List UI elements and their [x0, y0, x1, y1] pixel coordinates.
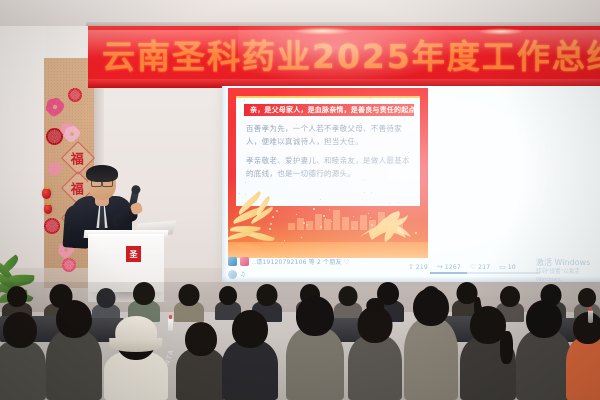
audience-head [573, 312, 600, 344]
audience-torso [566, 337, 600, 400]
baseball-cap [115, 316, 157, 349]
heart-icon[interactable]: ♡ [470, 264, 476, 271]
audience-head [3, 312, 37, 348]
conference-photo: 福福福 云南圣科药业2025年度工作总结暨 亲，是父母家人，是血脉亲情，是善良与… [0, 0, 600, 400]
video-stat[interactable]: ↪1267 [437, 264, 461, 271]
audience-torso [516, 330, 572, 400]
skyline-building [315, 214, 322, 230]
paper-flower-decoration [64, 126, 79, 141]
video-user-label: ..请19120792106 等 2 个朋友 ♡ [252, 257, 349, 266]
watermark-line-1: 激活 Windows [536, 258, 596, 268]
audience-head [185, 322, 217, 356]
slide-paragraph-2: 孝亲敬老、爱护妻儿、和睦亲友，是做人最基本的底线，也是一切德行的源头。 [246, 154, 414, 180]
thumbs-up-icon[interactable]: ⇧ [408, 264, 414, 271]
paper-fan-decoration [68, 88, 82, 102]
audience-member [566, 312, 600, 400]
audience-member [286, 296, 344, 400]
paper-flower-decoration [48, 162, 61, 175]
skyline-building [288, 223, 295, 230]
audience-member [104, 318, 168, 400]
slide-headline: 亲，是父母家人，是血脉亲情，是善良与责任的起点。 [244, 105, 414, 115]
paper-flower-decoration [46, 98, 63, 115]
video-stat-value: 1267 [445, 264, 461, 271]
audience-head [578, 288, 596, 307]
audience-torso [404, 318, 458, 400]
slide-headline-bar: 亲，是父母家人，是血脉亲情，是善良与责任的起点。 [244, 104, 414, 116]
audience-head [232, 310, 268, 348]
slide-paragraph-1: 百善孝为先，一个人若不孝敬父母、不善待家人，便难以真诚待人，担当大任。 [246, 122, 414, 148]
water-bottle [588, 310, 593, 323]
hair-bun [366, 298, 384, 313]
banner-title: 云南圣科药业2025年度工作总结暨 [102, 30, 600, 84]
video-stats-row[interactable]: ⇧219↪1267♡217▭10 [408, 262, 548, 272]
comment-icon[interactable]: ▭ [499, 264, 506, 271]
share-icon[interactable]: ↪ [437, 264, 443, 271]
lantern-decoration [44, 204, 52, 214]
audience-head [219, 286, 237, 305]
skyline-building [297, 218, 304, 230]
audience-head [526, 300, 562, 338]
paper-fan-decoration [62, 258, 76, 272]
audience-member [174, 284, 204, 322]
avatar [228, 257, 237, 266]
podium-logo: 圣 [126, 246, 141, 262]
speaker-glasses-icon [91, 179, 113, 185]
ponytail [500, 331, 512, 363]
audience-torso [0, 340, 46, 400]
video-stat[interactable]: ▭10 [499, 264, 516, 271]
presentation-slide: 亲，是父母家人，是血脉亲情，是善良与责任的起点。 百善孝为先，一个人若不孝敬父母… [228, 88, 428, 258]
video-stat[interactable]: ⇧219 [408, 264, 428, 271]
skyline-building [306, 221, 313, 230]
audience-torso [286, 327, 344, 400]
audience-head [296, 296, 334, 336]
audience-member [404, 288, 458, 400]
audience-member [460, 306, 516, 400]
audience-head [179, 284, 200, 306]
audience-torso [46, 330, 102, 400]
lantern-decoration [42, 188, 51, 199]
audience-member [222, 310, 278, 400]
video-stat-value: 10 [508, 264, 516, 271]
video-user-row[interactable]: ..请19120792106 等 2 个朋友 ♡ [228, 256, 428, 267]
audience-head [413, 288, 449, 326]
audience-member [0, 312, 46, 400]
audience-member [516, 300, 572, 400]
audience-head [56, 300, 92, 338]
audience-torso [348, 335, 402, 400]
audience-head [257, 284, 278, 306]
audience-head [133, 282, 155, 305]
video-stat-value: 217 [478, 264, 490, 271]
avatar [240, 257, 249, 266]
skyline-building [333, 210, 340, 230]
audience-member [176, 322, 226, 400]
audience-member [46, 300, 102, 400]
video-stat[interactable]: ♡217 [470, 264, 490, 271]
audience-head [7, 286, 27, 307]
audience-torso [222, 340, 278, 400]
video-stat-value: 219 [416, 264, 428, 271]
water-bottle [168, 318, 173, 331]
event-banner: 云南圣科药业2025年度工作总结暨 [88, 26, 600, 88]
skyline-building [324, 219, 331, 230]
skyline-building [342, 217, 349, 230]
audience-torso [176, 348, 226, 400]
video-progress-bar[interactable] [430, 272, 540, 274]
audience-member [348, 306, 402, 400]
